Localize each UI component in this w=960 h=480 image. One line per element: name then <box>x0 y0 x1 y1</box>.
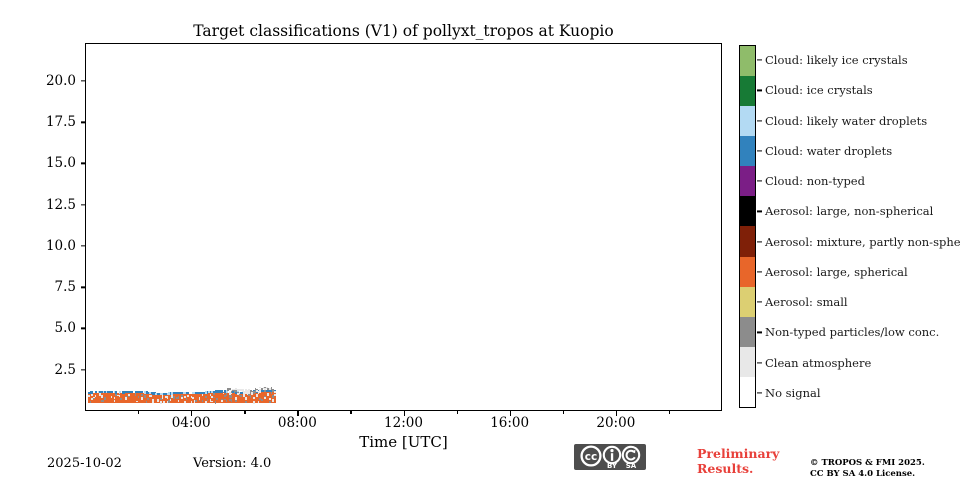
classification-heatmap <box>86 44 721 410</box>
x-tick-minor-mark <box>350 411 351 414</box>
x-tick-label: 08:00 <box>257 415 337 431</box>
cc-by-text: BY <box>607 462 618 470</box>
colorbar <box>739 45 756 408</box>
colorbar-tick-mark <box>757 302 762 303</box>
heatmap-cell-speckle <box>274 391 276 394</box>
colorbar-band <box>740 257 755 287</box>
x-tick-label: 16:00 <box>470 415 550 431</box>
colorbar-band <box>740 377 755 407</box>
legend-label-2: Cloud: likely water droplets <box>765 114 927 128</box>
heatmap-cell-speckle <box>274 394 276 396</box>
colorbar-tick-mark <box>757 332 762 333</box>
legend-label-10: Clean atmosphere <box>765 356 871 370</box>
x-tick-label: 12:00 <box>364 415 444 431</box>
colorbar-tick-mark <box>757 362 762 363</box>
colorbar-band <box>740 317 755 347</box>
y-tick-label: 20.0 <box>6 73 76 89</box>
colorbar-tick-mark <box>757 90 762 91</box>
y-tick-label: 10.0 <box>6 238 76 254</box>
colorbar-tick-mark <box>757 241 762 242</box>
preliminary-line-1: Preliminary <box>697 447 779 462</box>
legend-label-0: Cloud: likely ice crystals <box>765 53 908 67</box>
plot-area <box>85 43 722 411</box>
colorbar-tick-mark <box>757 271 762 272</box>
legend-label-4: Cloud: non-typed <box>765 174 865 188</box>
legend-label-6: Aerosol: mixture, partly non-spherical <box>765 235 960 249</box>
x-tick-label: 20:00 <box>576 415 656 431</box>
copyright-notice: © TROPOS & FMI 2025. CC BY SA 4.0 Licens… <box>810 458 925 480</box>
cc-badge-icon: cc BY SA <box>574 444 646 470</box>
figure-canvas: Target classifications (V1) of pollyxt_t… <box>0 0 960 480</box>
x-tick-minor-mark <box>563 411 564 414</box>
y-tick-label: 15.0 <box>6 155 76 171</box>
colorbar-band <box>740 166 755 196</box>
legend-label-9: Non-typed particles/low conc. <box>765 325 939 339</box>
x-tick-mark <box>191 411 192 416</box>
colorbar-tick-mark <box>757 150 762 151</box>
colorbar-band <box>740 226 755 256</box>
cc-sa-text: SA <box>626 462 637 470</box>
colorbar-tick-mark <box>757 181 762 182</box>
x-tick-mark <box>616 411 617 416</box>
x-tick-mark <box>510 411 511 416</box>
y-tick-label: 7.5 <box>6 279 76 295</box>
y-tick-label: 17.5 <box>6 114 76 130</box>
x-tick-minor-mark <box>457 411 458 414</box>
colorbar-tick-mark <box>757 120 762 121</box>
colorbar-band <box>740 106 755 136</box>
cc-license-badge: cc BY SA <box>574 444 646 470</box>
y-tick-label: 2.5 <box>6 362 76 378</box>
legend-label-5: Aerosol: large, non-spherical <box>765 204 933 218</box>
x-tick-minor-mark <box>669 411 670 414</box>
colorbar-band <box>740 46 755 76</box>
x-tick-label: 04:00 <box>151 415 231 431</box>
legend-label-8: Aerosol: small <box>765 295 848 309</box>
colorbar-band <box>740 76 755 106</box>
x-tick-mark <box>297 411 298 416</box>
legend-label-11: No signal <box>765 386 821 400</box>
colorbar-band <box>740 347 755 377</box>
y-tick-label: 5.0 <box>6 320 76 336</box>
colorbar-band <box>740 287 755 317</box>
colorbar-band <box>740 136 755 166</box>
colorbar-band <box>740 196 755 226</box>
legend-label-7: Aerosol: large, spherical <box>765 265 908 279</box>
x-tick-minor-mark <box>244 411 245 414</box>
copyright-line-1: © TROPOS & FMI 2025. <box>810 458 925 469</box>
x-tick-mark <box>404 411 405 416</box>
svg-text:cc: cc <box>585 451 597 463</box>
preliminary-line-2: Results. <box>697 462 779 477</box>
y-tick-label: 12.5 <box>6 197 76 213</box>
x-tick-minor-mark <box>138 411 139 414</box>
colorbar-tick-mark <box>757 60 762 61</box>
colorbar-tick-mark <box>757 392 762 393</box>
page-title: Target classifications (V1) of pollyxt_t… <box>85 22 722 40</box>
copyright-line-2: CC BY SA 4.0 License. <box>810 469 925 480</box>
colorbar-tick-mark <box>757 211 762 212</box>
preliminary-results-notice: Preliminary Results. <box>697 447 779 477</box>
footer-date: 2025-10-02 <box>47 456 122 471</box>
legend-label-1: Cloud: ice crystals <box>765 83 873 97</box>
legend-label-3: Cloud: water droplets <box>765 144 892 158</box>
footer-version: Version: 4.0 <box>193 456 271 471</box>
